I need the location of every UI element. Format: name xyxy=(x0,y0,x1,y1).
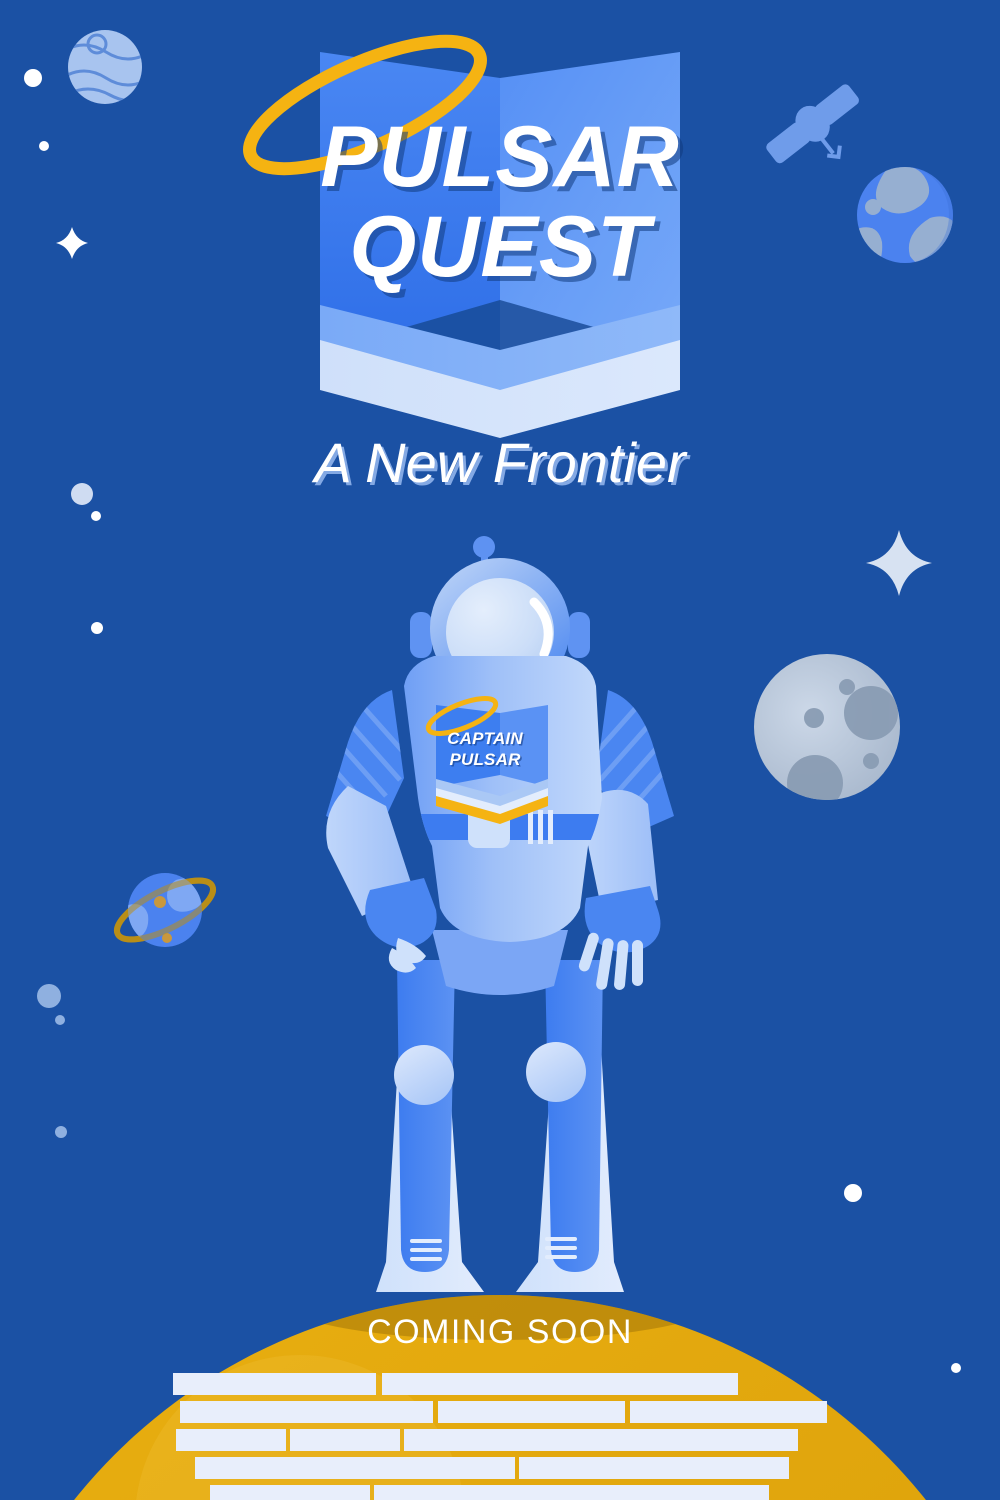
placeholder-bar xyxy=(195,1457,515,1479)
placeholder-bar xyxy=(438,1401,625,1423)
placeholder-bar xyxy=(210,1485,370,1500)
helmet-ear-left xyxy=(410,612,432,658)
poster-canvas: PULSAR QUEST A New Frontier CAPTAIN PULS… xyxy=(0,0,1000,1500)
placeholder-bar xyxy=(382,1373,738,1395)
helmet-ear-right xyxy=(568,612,590,658)
placeholder-bar xyxy=(173,1373,376,1395)
placeholder-bar xyxy=(630,1401,827,1423)
placeholder-bar xyxy=(290,1429,400,1451)
placeholder-bar xyxy=(404,1429,798,1451)
placeholder-bar xyxy=(374,1485,769,1500)
placeholder-bar xyxy=(519,1457,789,1479)
knee-pad-right xyxy=(526,1042,586,1102)
poster-artwork xyxy=(0,0,1000,1500)
placeholder-bar xyxy=(180,1401,433,1423)
shield-logo-graphic xyxy=(320,52,680,438)
knee-pad-left xyxy=(394,1045,454,1105)
chest-badge-logo xyxy=(424,691,548,824)
placeholder-bar xyxy=(176,1429,286,1451)
